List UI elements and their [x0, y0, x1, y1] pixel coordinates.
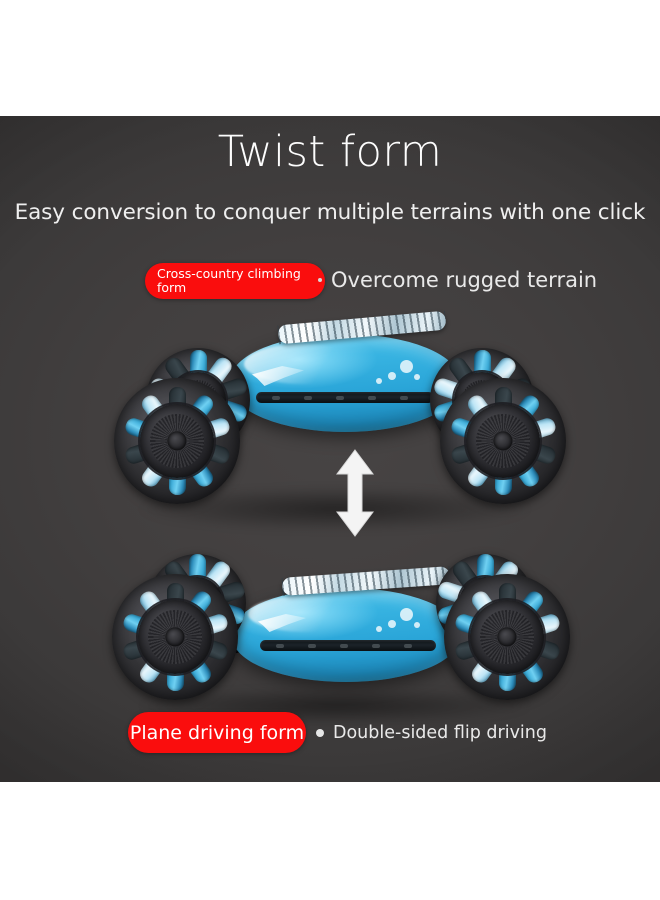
led-light-strip	[256, 392, 434, 403]
caption-double-sided-flip-driving: Double-sided flip driving	[316, 714, 547, 752]
wheel-assembly-left	[110, 548, 260, 718]
badge-plane-driving-form: Plane driving form	[128, 712, 306, 753]
badge-bottom-label: Plane driving form	[130, 722, 304, 744]
caption-top-label: Overcome rugged terrain	[331, 268, 597, 292]
bubble-decals	[370, 606, 430, 636]
wheel-right-front	[444, 574, 570, 700]
page-subtitle: Easy conversion to conquer multiple terr…	[0, 198, 660, 228]
small-dot-icon	[318, 278, 322, 282]
wheel-left-front	[112, 574, 238, 700]
wheel-right-front	[440, 378, 566, 504]
wheel-left-front	[114, 378, 240, 504]
wheel-hub	[140, 404, 214, 478]
vertical-double-arrow-icon	[333, 448, 377, 538]
wheel-assembly-left	[110, 348, 260, 528]
vehicle-plane-form	[110, 548, 560, 718]
caption-overcome-rugged-terrain: Overcome rugged terrain	[318, 262, 597, 298]
large-dot-icon	[316, 729, 324, 737]
badge-top-label: Cross-country climbing form	[157, 267, 325, 295]
wheel-assembly-right	[420, 348, 570, 528]
caption-bottom-label: Double-sided flip driving	[333, 723, 547, 743]
led-light-strip	[260, 640, 436, 651]
wheel-hub	[138, 600, 212, 674]
product-feature-image: Twist form Easy conversion to conquer mu…	[0, 0, 660, 900]
wheel-hub	[466, 404, 540, 478]
wheel-assembly-right	[422, 548, 572, 718]
badge-cross-country-climbing-form: Cross-country climbing form	[145, 263, 325, 299]
page-title: Twist form	[0, 126, 660, 178]
wheel-hub	[470, 600, 544, 674]
